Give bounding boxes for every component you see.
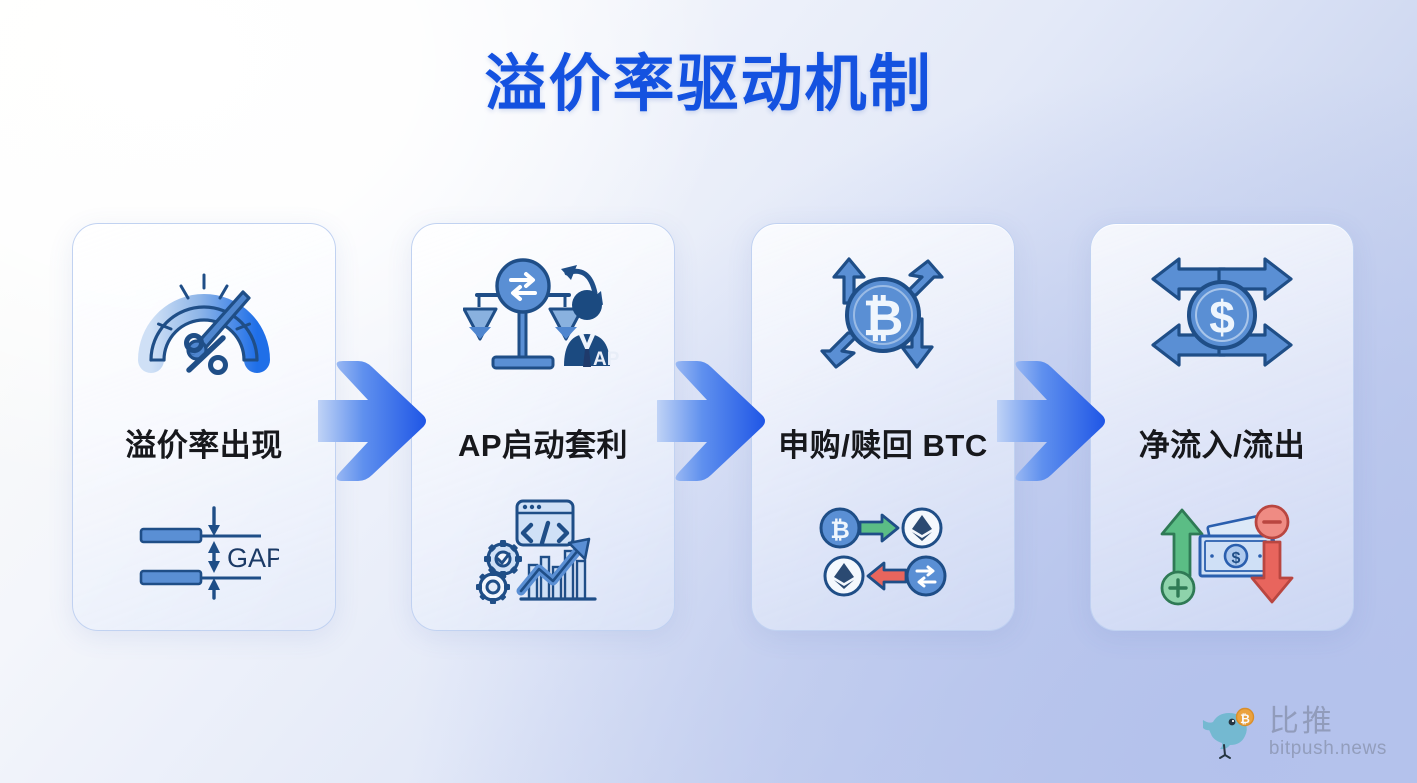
step-card-3-label: 申购/赎回 BTC xyxy=(752,420,1014,465)
price-gap-diagram-icon: GAP xyxy=(73,494,335,612)
svg-text:₿: ₿ xyxy=(1240,712,1250,726)
premium-gauge-percent-icon xyxy=(73,250,335,382)
flow-arrow-1 xyxy=(318,358,430,483)
watermark-url: bitpush.news xyxy=(1269,737,1387,761)
dollar-bidirectional-flow-icon: $ xyxy=(1091,250,1353,382)
gears-code-growth-chart-icon xyxy=(412,494,674,612)
watermark-brand-cn: 比推 xyxy=(1269,707,1335,737)
svg-text:$: $ xyxy=(1232,550,1241,567)
gap-label: GAP xyxy=(227,543,279,573)
watermark: ₿ 比推 bitpush.news xyxy=(1199,703,1387,761)
svg-text:₿: ₿ xyxy=(830,517,850,544)
svg-text:$: $ xyxy=(1209,291,1235,343)
step-card-1-label: 溢价率出现 xyxy=(73,420,335,465)
flow-arrow-2 xyxy=(657,358,769,483)
step-card-3[interactable]: ₿ 申购/赎回 BTC ₿ xyxy=(751,223,1015,631)
step-card-4[interactable]: $ 净流入/流出 xyxy=(1090,223,1354,631)
flow-arrow-3 xyxy=(997,358,1109,483)
bitcoin-four-arrows-icon: ₿ xyxy=(752,250,1014,382)
step-card-2-label: AP启动套利 xyxy=(412,420,674,465)
balance-scale-arbitrage-ap-icon: AP xyxy=(412,250,674,382)
page-title: 溢价率驱动机制 xyxy=(0,52,1417,117)
step-card-1[interactable]: 溢价率出现 xyxy=(72,223,336,631)
step-card-2[interactable]: AP AP启动套利 xyxy=(411,223,675,631)
step-card-4-label: 净流入/流出 xyxy=(1091,420,1353,465)
cash-inflow-outflow-icon: $ xyxy=(1091,494,1353,612)
bird-bitcoin-logo-icon: ₿ xyxy=(1199,703,1261,761)
infographic-stage: 溢价率驱动机制 xyxy=(0,0,1417,783)
btc-eth-swap-flow-icon: ₿ xyxy=(752,494,1014,612)
svg-text:AP: AP xyxy=(593,349,620,370)
svg-text:₿: ₿ xyxy=(863,290,904,346)
